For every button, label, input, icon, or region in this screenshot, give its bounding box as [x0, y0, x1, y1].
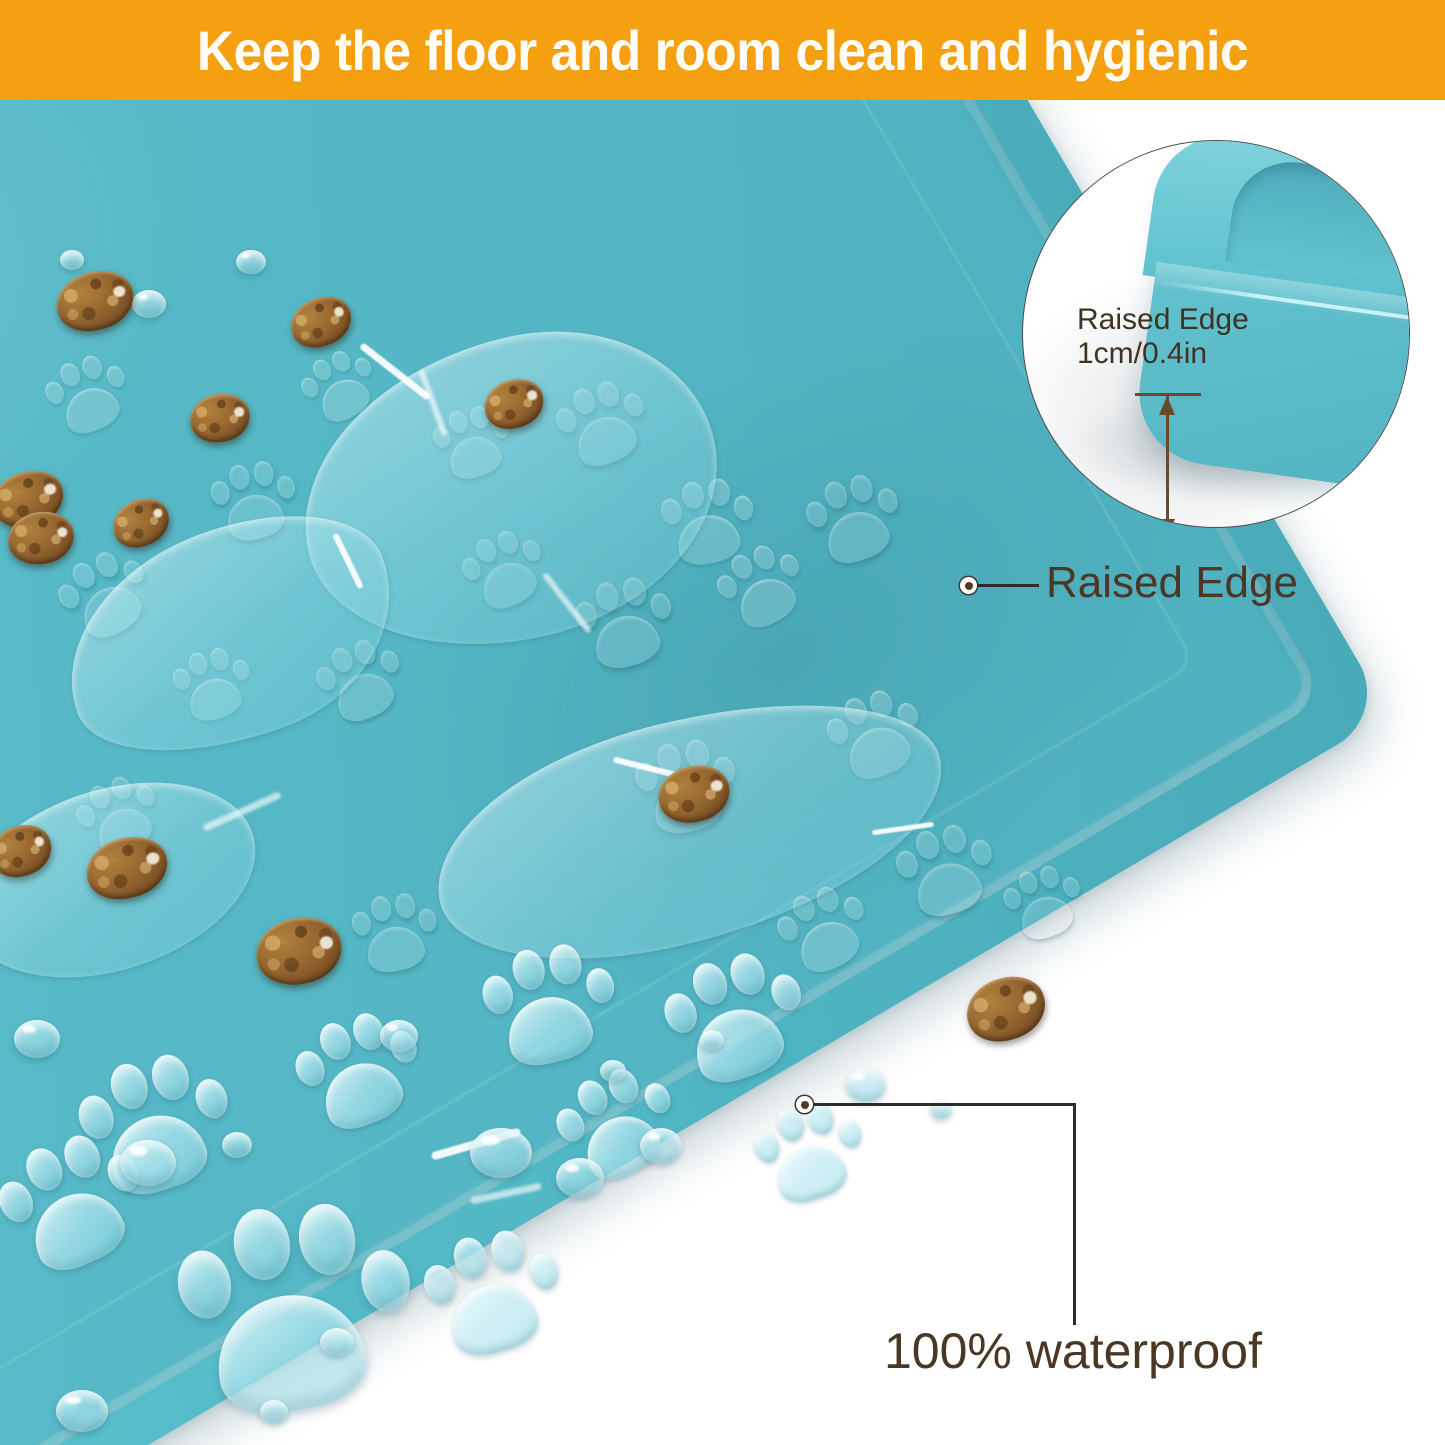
dimension-arrowhead-down [1159, 519, 1175, 528]
callout-marker-raised-edge [960, 577, 977, 594]
raised-edge-zoom-inset: Raised Edge 1cm/0.4in [1022, 140, 1410, 528]
callout-marker-waterproof [796, 1096, 813, 1113]
water-paw-toe [750, 1128, 783, 1166]
dimension-arrowhead-up [1159, 396, 1175, 415]
callout-leader-waterproof-horizontal [813, 1103, 1075, 1106]
water-droplet [846, 1068, 886, 1102]
headline-banner: Keep the floor and room clean and hygien… [0, 0, 1445, 100]
inset-label-line2: 1cm/0.4in [1077, 337, 1249, 371]
callout-leader-waterproof-vertical [1073, 1103, 1076, 1325]
dot-marker-icon [801, 1101, 809, 1109]
banner-title: Keep the floor and room clean and hygien… [58, 0, 1387, 100]
inset-label: Raised Edge 1cm/0.4in [1077, 303, 1249, 371]
kibble-piece [958, 966, 1054, 1052]
water-paw-toe [835, 1116, 865, 1150]
water-paw-pad [769, 1137, 851, 1209]
dimension-shaft [1166, 396, 1169, 528]
product-feature-image: Keep the floor and room clean and hygien… [0, 0, 1445, 1445]
callout-label-raised-edge: Raised Edge [1046, 558, 1298, 608]
dot-marker-icon [965, 582, 973, 590]
water-paw-toe [526, 1250, 563, 1292]
product-photo-stage: Raised Edge 1cm/0.4in Raised Edge 100% w… [0, 100, 1445, 1445]
callout-leader-raised-edge [977, 584, 1039, 587]
water-droplet [260, 1400, 288, 1424]
inset-label-line1: Raised Edge [1077, 303, 1249, 337]
callout-label-waterproof: 100% waterproof [884, 1322, 1262, 1380]
water-paw-pad [443, 1275, 544, 1363]
double-arrow-icon [1123, 393, 1213, 528]
